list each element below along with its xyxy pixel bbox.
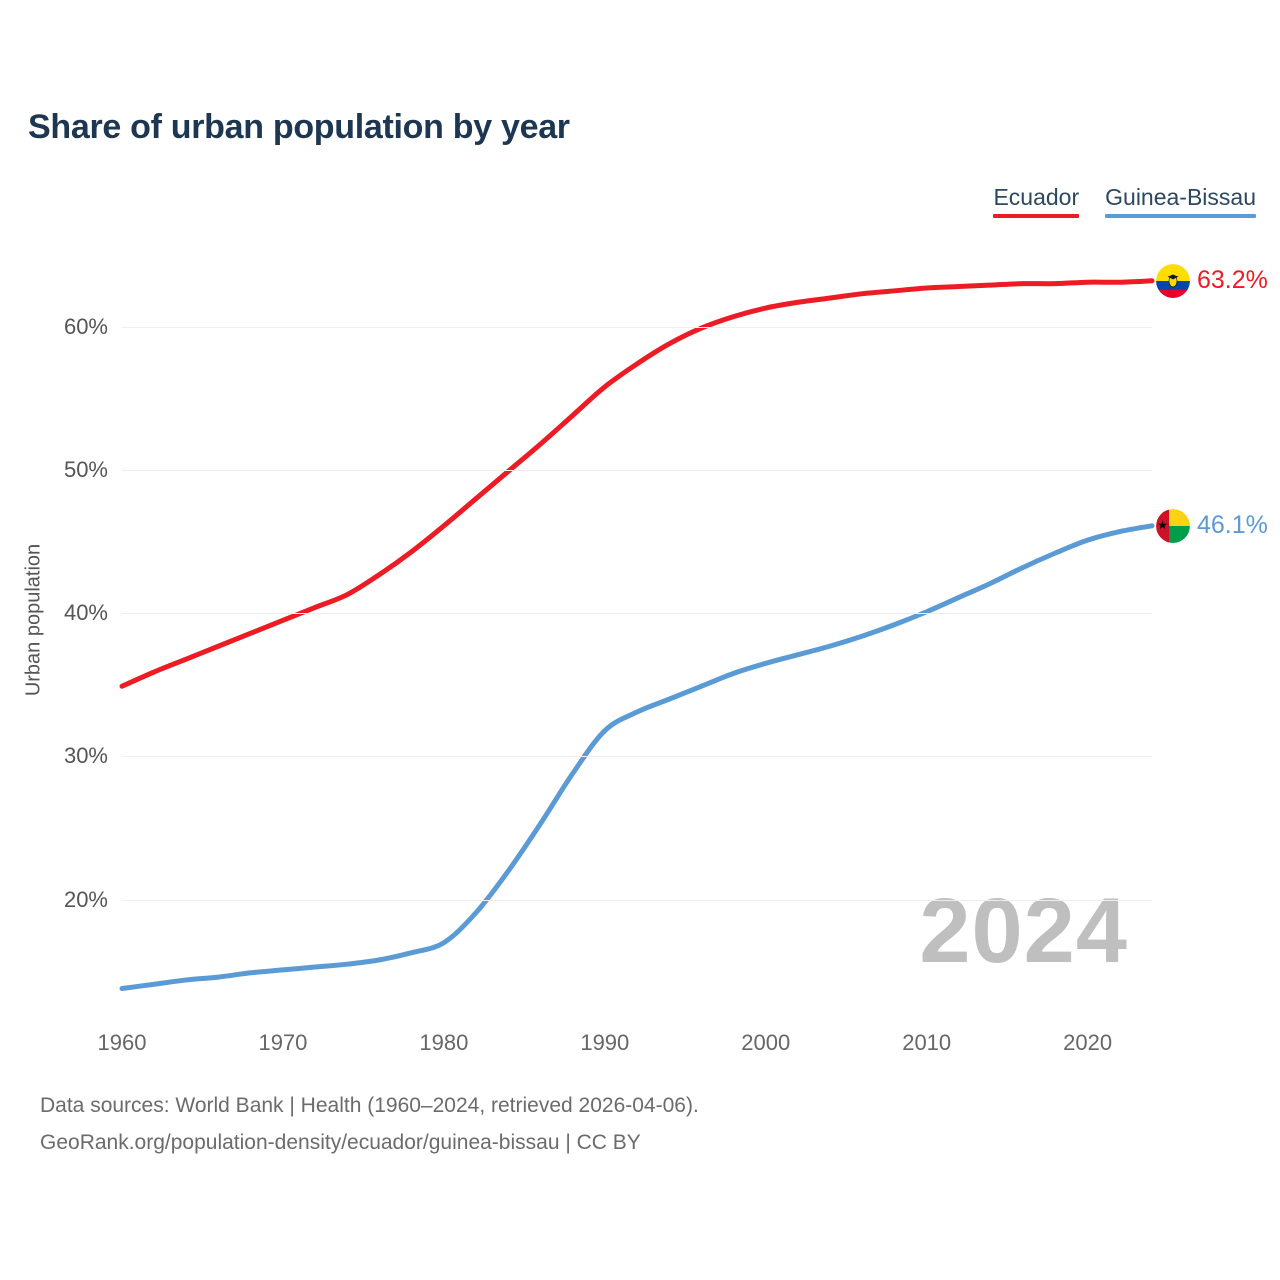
legend-label-guinea-bissau: Guinea-Bissau: [1105, 184, 1256, 210]
x-axis-tick-label: 1990: [580, 1030, 629, 1056]
footer-credits: Data sources: World Bank | Health (1960–…: [40, 1088, 699, 1162]
gridline: [122, 613, 1152, 614]
guinea-bissau-endpoint-value: 46.1%: [1197, 511, 1268, 540]
y-axis-title: Urban population: [23, 544, 46, 696]
footer-line-1: Data sources: World Bank | Health (1960–…: [40, 1088, 699, 1125]
y-axis-tick-label: 50%: [64, 457, 108, 483]
x-axis-tick-label: 2000: [741, 1030, 790, 1056]
legend-rule-guinea-bissau: [1105, 214, 1256, 218]
series-line-ecuador: [122, 281, 1152, 686]
chart-title: Share of urban population by year: [28, 108, 570, 147]
gridline: [122, 470, 1152, 471]
x-axis-tick-label: 2020: [1063, 1030, 1112, 1056]
guinea-bissau-endpoint: 46.1%: [1156, 509, 1268, 543]
chart-container: Share of urban population by year Ecuado…: [0, 0, 1280, 1280]
x-axis-tick-label: 1980: [419, 1030, 468, 1056]
gridline: [122, 900, 1152, 901]
gridline: [122, 327, 1152, 328]
ecuador-endpoint-value: 63.2%: [1197, 266, 1268, 295]
y-axis-tick-label: 40%: [64, 600, 108, 626]
legend-item-guinea-bissau[interactable]: Guinea-Bissau: [1105, 184, 1256, 218]
footer-line-2: GeoRank.org/population-density/ecuador/g…: [40, 1125, 699, 1162]
plot-area: 20%30%40%50%60%1960197019801990200020102…: [122, 255, 1152, 1000]
legend-rule-ecuador: [993, 214, 1079, 218]
ecuador-flag-icon: [1156, 264, 1190, 298]
gridline: [122, 756, 1152, 757]
guinea-bissau-flag-icon: [1156, 509, 1190, 543]
x-axis-tick-label: 1960: [98, 1030, 147, 1056]
y-axis-tick-label: 30%: [64, 743, 108, 769]
y-axis-tick-label: 20%: [64, 887, 108, 913]
chart-legend: Ecuador Guinea-Bissau: [993, 184, 1256, 218]
y-axis-tick-label: 60%: [64, 314, 108, 340]
x-axis-tick-label: 2010: [902, 1030, 951, 1056]
x-axis-tick-label: 1970: [258, 1030, 307, 1056]
series-lines: [122, 255, 1152, 1000]
legend-item-ecuador[interactable]: Ecuador: [993, 184, 1079, 218]
legend-label-ecuador: Ecuador: [993, 184, 1079, 210]
ecuador-endpoint: 63.2%: [1156, 264, 1268, 298]
